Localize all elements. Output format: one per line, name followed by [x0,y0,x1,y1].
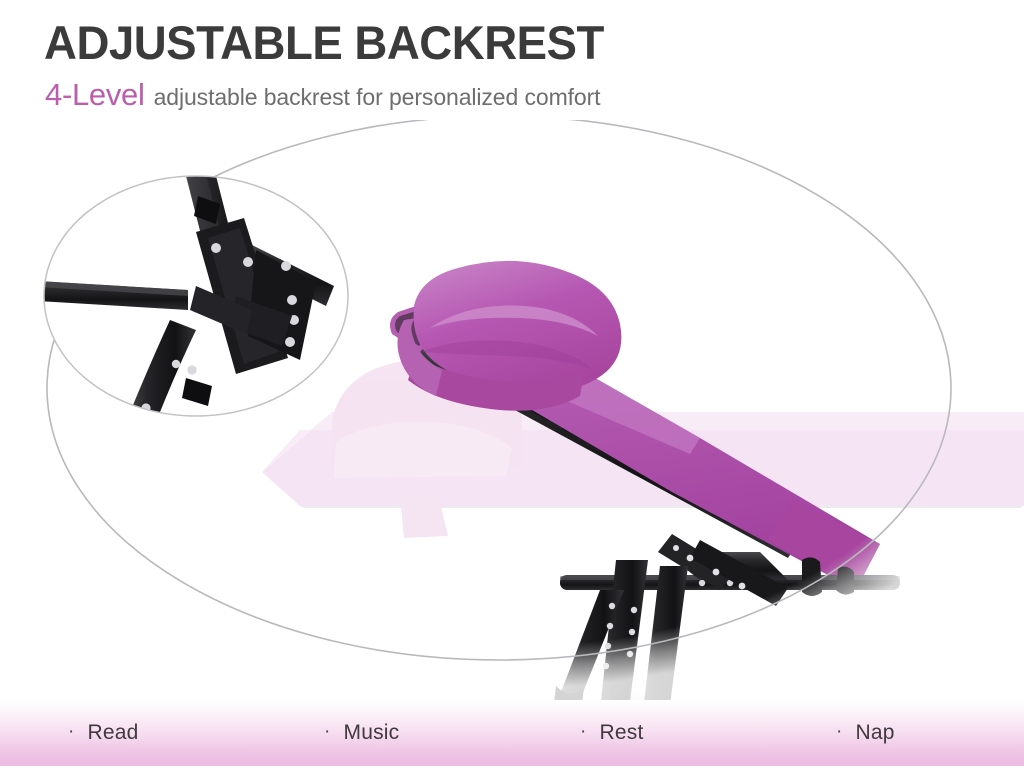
feature-item-music[interactable]: · Music [256,721,512,745]
feature-item-rest[interactable]: · Rest [512,721,768,745]
subtitle-rest-text: adjustable backrest for personalized com… [154,83,601,111]
subtitle-accent-text: 4-Level [45,78,145,112]
feature-list: · Read · Music · Rest · Nap [0,700,1024,766]
bullet-icon: · [68,722,75,741]
page-title: ADJUSTABLE BACKREST [44,17,604,69]
feature-label: Rest [600,721,644,745]
feature-bar: · Read · Music · Rest · Nap [0,700,1024,766]
feature-item-read[interactable]: · Read [0,721,256,745]
feature-item-nap[interactable]: · Nap [768,721,1024,745]
bullet-icon: · [836,722,843,741]
page-subtitle: 4-Level adjustable backrest for personal… [45,78,600,112]
banner-header: ADJUSTABLE BACKREST 4-Level adjustable b… [0,0,1024,128]
product-illustration [0,120,1024,710]
feature-label: Music [344,721,400,745]
product-feature-banner: ADJUSTABLE BACKREST 4-Level adjustable b… [0,0,1024,766]
hinge-detail-callout [20,168,348,446]
feature-label: Read [88,721,139,745]
bullet-icon: · [324,722,331,741]
chair-illustration-svg [0,120,1024,710]
feature-label: Nap [856,721,895,745]
bullet-icon: · [580,722,587,741]
